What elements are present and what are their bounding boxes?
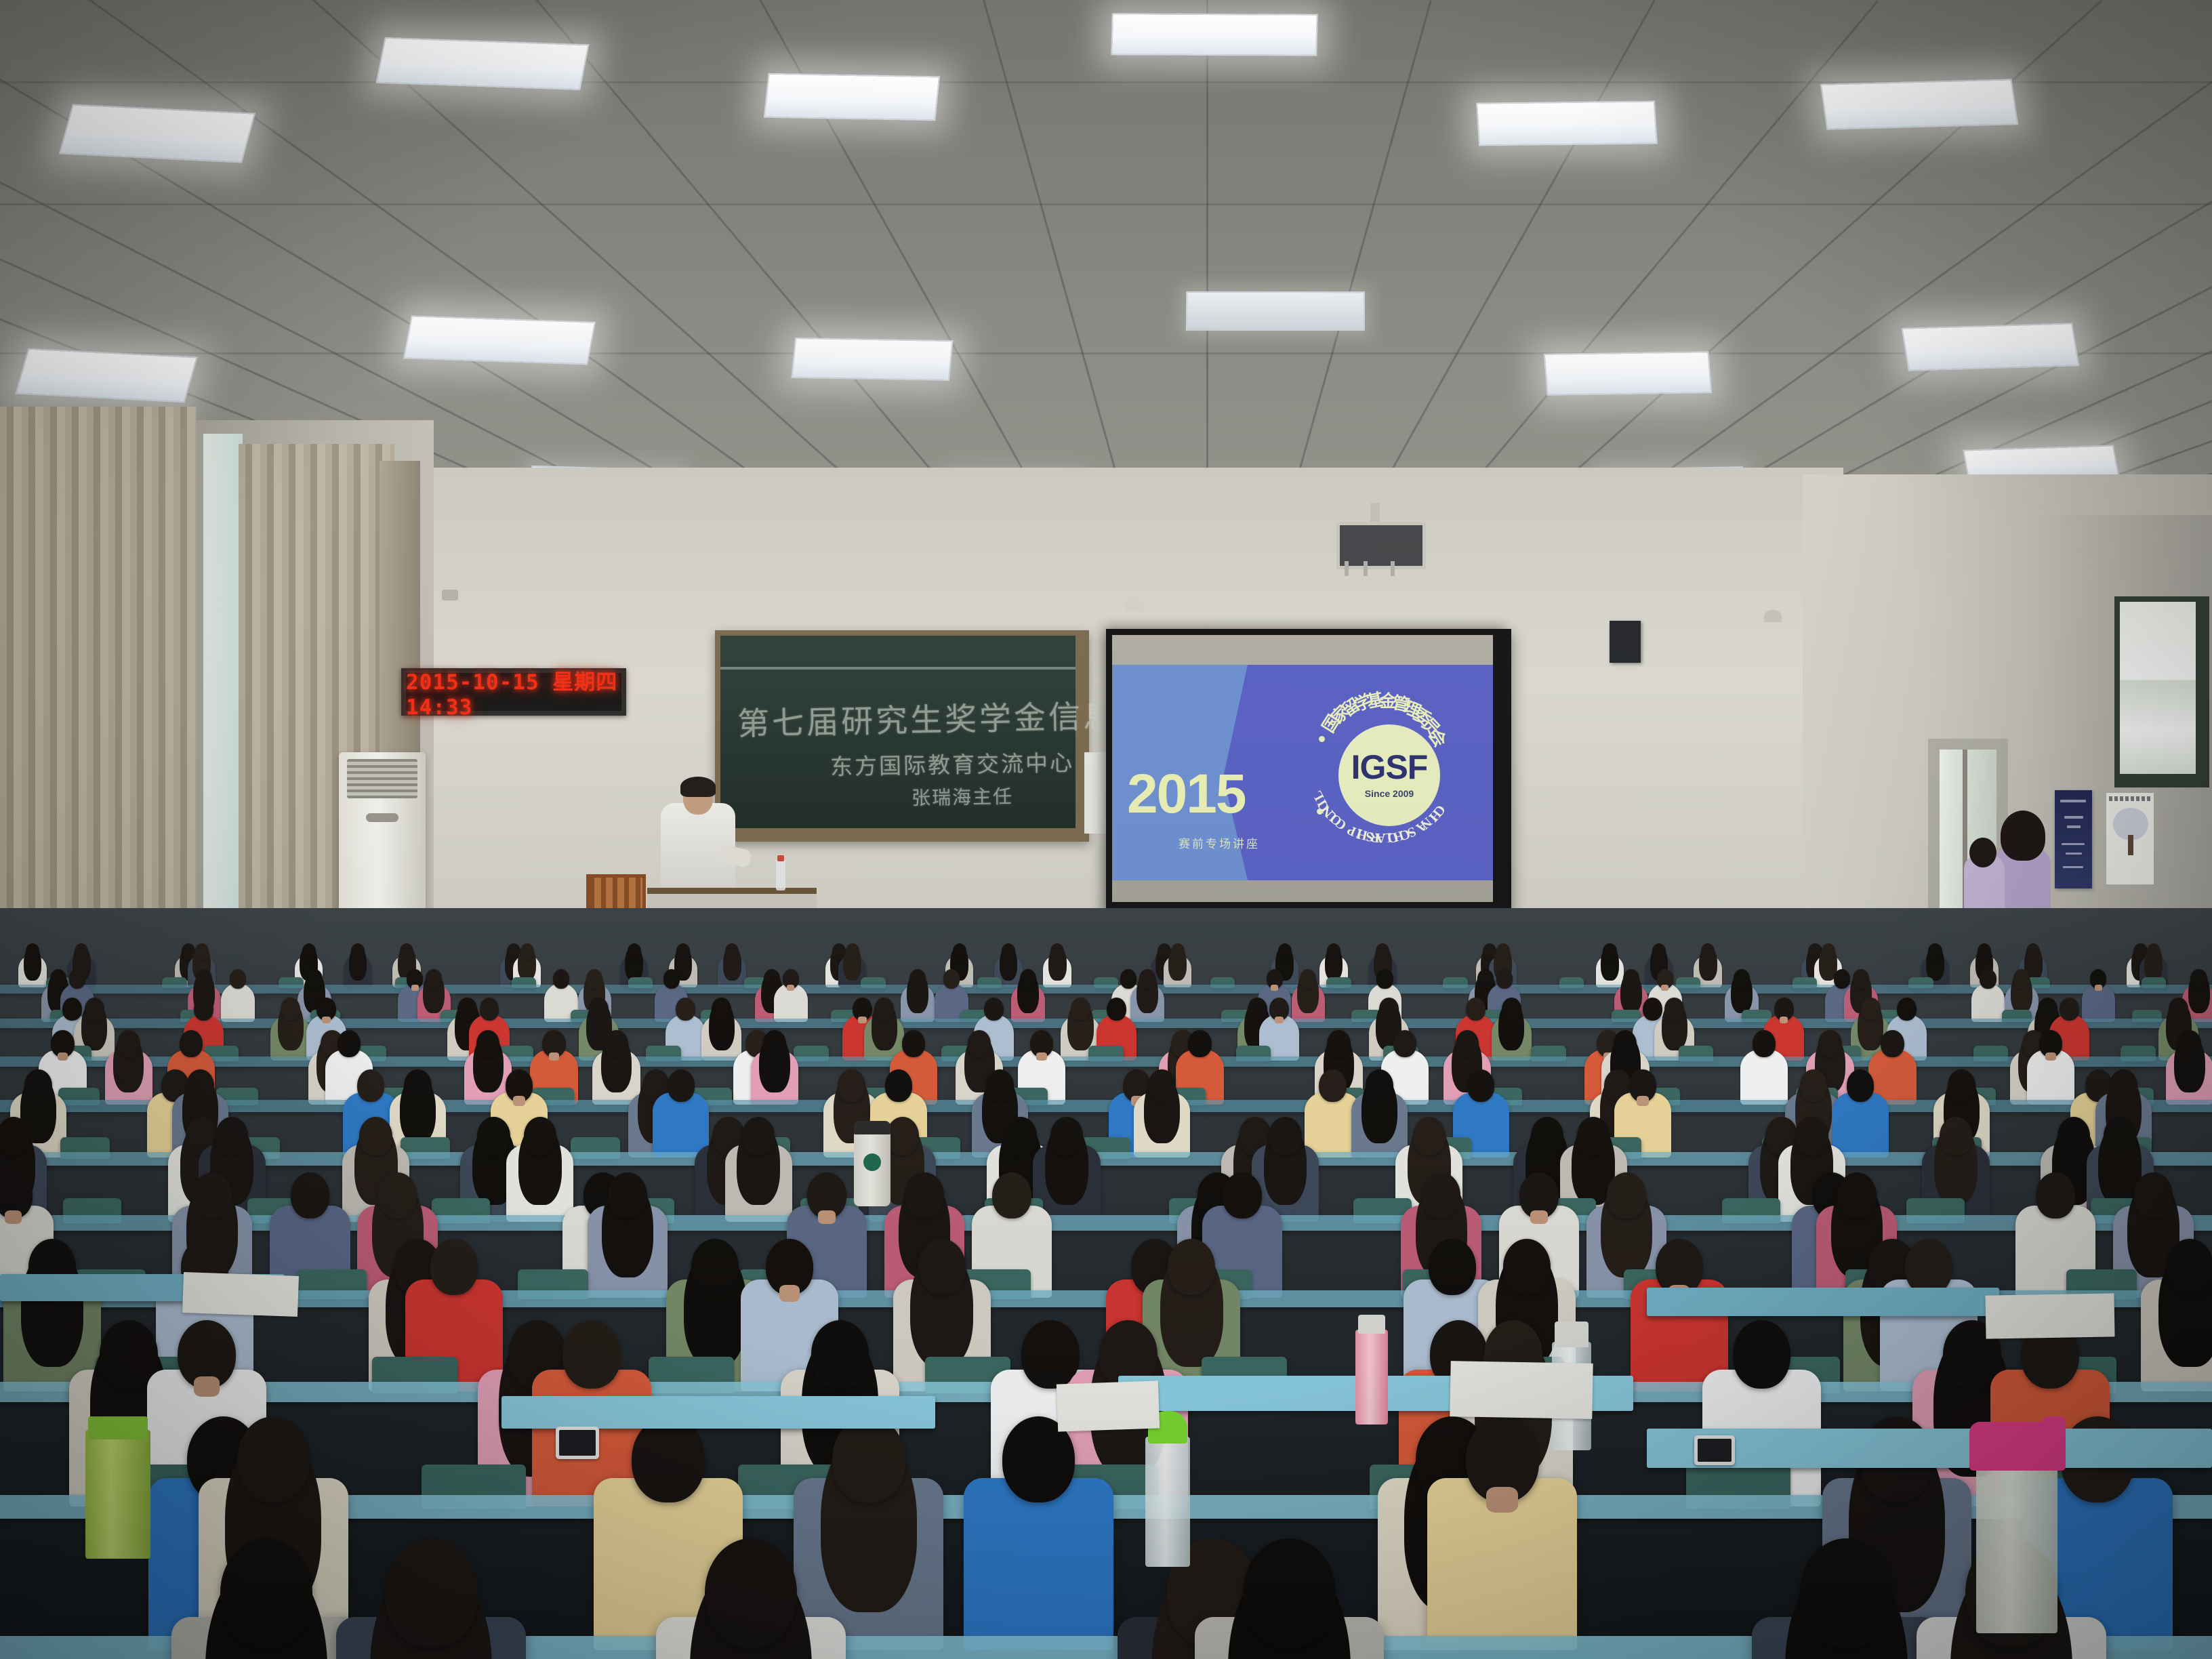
projector-security-cage xyxy=(1336,522,1426,569)
phone-screen[interactable] xyxy=(559,1430,596,1456)
projected-slide: 2015 赛前专场讲座 IGSF Since 2009 国家留学基金管理委员会C… xyxy=(1112,665,1493,880)
audience-member-head xyxy=(2060,998,2079,1021)
audience-member-head xyxy=(1466,998,1486,1021)
audience-member-head xyxy=(2057,1117,2090,1155)
audience-member-head xyxy=(281,998,300,1021)
handout-paper xyxy=(182,1272,299,1317)
audience-member-head xyxy=(62,998,82,1021)
audience-member-head xyxy=(874,998,894,1021)
handout-paper xyxy=(1057,1380,1160,1431)
audience-member-torso xyxy=(1971,983,2005,1022)
audience-member-head xyxy=(2147,943,2160,960)
audience-member-head xyxy=(1422,1172,1461,1218)
audience-member-head xyxy=(302,943,316,960)
ceiling-grid-band xyxy=(0,203,2212,205)
audience-member-head xyxy=(404,1069,432,1102)
audience-member-neck xyxy=(411,985,419,991)
audience-member-head xyxy=(1643,998,1662,1021)
desk-row-right xyxy=(1647,1288,1999,1316)
audience-member-head xyxy=(1531,1117,1563,1155)
audience-member-neck xyxy=(858,1017,867,1023)
audience-member-head xyxy=(2169,998,2188,1021)
audience-member-head xyxy=(1243,1538,1336,1647)
ceiling-light-panel xyxy=(403,315,596,365)
audience-member-head xyxy=(1664,998,1684,1021)
audience-member-head xyxy=(192,1172,232,1218)
audience-member-head xyxy=(2104,1117,2136,1155)
audience-member-head xyxy=(1897,998,1917,1021)
ceiling-light-panel xyxy=(59,104,256,163)
audience-member-torso xyxy=(653,1092,709,1158)
audience-member-neck xyxy=(1661,985,1668,991)
audience-member-head xyxy=(1366,1069,1393,1102)
audience-member-head xyxy=(1577,1117,1610,1155)
audience-member-head xyxy=(1496,969,1513,989)
audience-member-head xyxy=(237,1416,310,1502)
starbucks-logo-icon xyxy=(863,1153,881,1171)
audience-member-neck xyxy=(787,985,794,991)
audience-member-head xyxy=(117,1030,140,1057)
audience-member-head xyxy=(943,969,960,989)
audience-member-torso xyxy=(964,1478,1113,1650)
audience-member-head xyxy=(1800,1538,1893,1647)
audience-member-head xyxy=(676,998,695,1021)
lectern-bottle-cap xyxy=(777,855,784,861)
audience-member-head xyxy=(712,998,731,1021)
bottle-green xyxy=(85,1430,150,1559)
audience-member-head xyxy=(1905,1239,1952,1295)
audience-member-head xyxy=(608,1172,647,1218)
window-curtain-left xyxy=(0,407,197,935)
audience-member-head xyxy=(763,1030,786,1057)
audience-member-head xyxy=(553,969,569,989)
audience-member-head xyxy=(586,969,602,989)
audience-member-head xyxy=(1734,969,1750,989)
audience-member-head xyxy=(1071,998,1090,1021)
audience-member-head xyxy=(1020,969,1036,989)
audience-member-torso xyxy=(1832,1092,1889,1158)
audience-member-neck xyxy=(2095,985,2102,991)
audience-member-head xyxy=(1861,998,1881,1021)
audience-member-head xyxy=(75,943,88,960)
audience-member-head xyxy=(1139,969,1155,989)
ceiling-light-panel xyxy=(1476,100,1658,146)
audience-member-head xyxy=(1050,1117,1083,1155)
audience-member-head xyxy=(1853,969,1869,989)
audience-member-head xyxy=(1379,998,1399,1021)
bottle-pink-shaker xyxy=(1976,1457,2057,1633)
audience-member-head xyxy=(1327,1030,1350,1057)
seal-since-text: Since 2009 xyxy=(1365,788,1414,799)
audience-member-head xyxy=(1168,1239,1215,1295)
audience-member-head xyxy=(668,1069,695,1102)
audience-member-neck xyxy=(194,1376,220,1397)
audience-member-head xyxy=(1393,1030,1416,1057)
ceiling-light-panel xyxy=(375,37,589,91)
audience-member-head xyxy=(1413,1117,1446,1155)
led-clock-text: 2015-10-15 星期四 14:33 xyxy=(406,673,621,711)
audience-member-head xyxy=(1278,943,1292,960)
audience-member-head xyxy=(1948,1069,1975,1102)
ceiling-grid-band xyxy=(0,352,2212,354)
audience-member-head xyxy=(984,998,1004,1021)
audience-member-head xyxy=(351,943,365,960)
audience-member-head xyxy=(838,1069,865,1102)
handout-paper xyxy=(1450,1361,1593,1419)
bottle-clear-cap xyxy=(1555,1322,1589,1347)
audience-member-head xyxy=(2166,1239,2212,1295)
audience-member-head xyxy=(846,943,859,960)
audience-member-head xyxy=(378,1172,417,1218)
audience-member-head xyxy=(832,1416,905,1502)
audience-member-head xyxy=(195,943,209,960)
audience-member-head xyxy=(886,1117,919,1155)
poster-title-line xyxy=(2109,796,2151,801)
audience-member-head xyxy=(337,1030,361,1057)
audience-member-head xyxy=(69,969,85,989)
audience-member-torso xyxy=(1740,1050,1788,1105)
lectern-water-bottle xyxy=(776,859,785,890)
audience-member-head xyxy=(992,1172,1031,1218)
audience-member-head xyxy=(1050,943,1064,960)
audience-member-head xyxy=(885,1069,913,1102)
audience-member-neck xyxy=(1486,1487,1518,1513)
audience-member-head xyxy=(1002,943,1015,960)
audience-member-head xyxy=(476,1030,499,1057)
audience-member-head xyxy=(1753,1030,1776,1057)
audience-member-head xyxy=(811,1320,869,1389)
audience-member-neck xyxy=(322,1017,331,1023)
audience-member-head xyxy=(742,1117,775,1155)
security-camera-icon xyxy=(442,590,458,600)
ceiling-light-panel xyxy=(1901,323,2079,371)
phone-screen[interactable] xyxy=(1698,1439,1732,1462)
audience-member-head xyxy=(357,1069,385,1102)
audience-member-head xyxy=(1928,943,1942,960)
projector-cage-foot xyxy=(1364,561,1368,576)
audience-member-head xyxy=(1376,943,1389,960)
audience-member-head xyxy=(0,1117,30,1155)
presenter-hair xyxy=(680,777,716,797)
audience-member-head xyxy=(605,1030,628,1057)
audience-member-neck xyxy=(1530,1210,1547,1224)
audience-member-head xyxy=(1800,1069,1828,1102)
audience-member-neck xyxy=(2045,1052,2055,1061)
lecture-hall-photo: 2015-10-15 星期四 14:33 第七届研究生奖学金信息说明会 东方国际… xyxy=(0,0,2212,1659)
window-pane xyxy=(203,434,243,949)
tree-trunk-icon xyxy=(2128,835,2133,855)
audience-member-head xyxy=(1607,1172,1646,1218)
poster-line xyxy=(2062,843,2085,845)
audience-member-head xyxy=(1171,943,1185,960)
audience-member-head xyxy=(589,998,609,1021)
ceiling-light-panel xyxy=(791,337,953,381)
audience-member-neck xyxy=(5,1210,22,1224)
audience-member-head xyxy=(968,1030,991,1057)
audience-member-head xyxy=(1503,1239,1551,1295)
audience-member-head xyxy=(306,969,323,989)
audience-member-head xyxy=(1429,1239,1476,1295)
audience-member-head xyxy=(1502,998,1521,1021)
audience-member-neck xyxy=(549,1052,559,1061)
bottle-clear-green-cap xyxy=(1145,1437,1190,1567)
blackboard-line-2: 东方国际教育交流中心 xyxy=(830,745,1075,781)
audience-member-head xyxy=(220,1538,313,1647)
audience-member-head xyxy=(1319,1069,1347,1102)
blackboard-chalk-rail xyxy=(720,667,1076,670)
audience-member-head xyxy=(50,969,66,989)
blackboard-line-3: 张瑞海主任 xyxy=(912,782,1014,811)
audience-member-head xyxy=(1496,943,1510,960)
audience-member-head xyxy=(85,998,104,1021)
seal-dot-icon xyxy=(1317,808,1323,815)
audience-member-head xyxy=(26,943,39,960)
led-clock-display: 2015-10-15 星期四 14:33 xyxy=(401,668,626,716)
audience-member-head xyxy=(905,1172,944,1218)
audience-member-head xyxy=(676,943,690,960)
ceiling-light-panel xyxy=(1186,291,1365,331)
seal-dot-icon xyxy=(1319,736,1325,742)
audience-member-head xyxy=(1623,969,1639,989)
wall-speaker xyxy=(1610,621,1641,663)
audience-member-head xyxy=(1940,1117,1972,1155)
audience-member-head xyxy=(1847,1069,1875,1102)
audience-member-head xyxy=(1980,969,1996,989)
ceiling-light-panel xyxy=(1544,351,1713,395)
audience-member-head xyxy=(1795,1117,1828,1155)
audience-member-head xyxy=(1467,1069,1495,1102)
projector-cage-foot xyxy=(1345,561,1349,576)
audience-member-head xyxy=(216,1117,248,1155)
tumbler-lid xyxy=(854,1121,890,1134)
poster-line xyxy=(2064,816,2083,819)
audience-member-head xyxy=(2190,969,2207,989)
audience-member-neck xyxy=(513,1096,525,1105)
audience-member-head xyxy=(520,943,534,960)
ceiling-light-panel xyxy=(1820,79,2019,129)
poster-line xyxy=(2066,853,2082,855)
audience-member-head xyxy=(1834,969,1850,989)
right-window-glass xyxy=(2120,602,2196,774)
poster-line xyxy=(2063,866,2083,868)
audience-member-head xyxy=(986,1069,1014,1102)
csc-seal-logo: IGSF Since 2009 国家留学基金管理委员会CHINA SCHOLAR… xyxy=(1291,677,1486,872)
audience-member-head xyxy=(764,969,780,989)
audience-member-head xyxy=(725,943,739,960)
audience-member-head xyxy=(426,969,442,989)
audience-member-head xyxy=(1881,1030,1904,1057)
ac-grille-icon xyxy=(347,759,417,798)
audience-member-torso xyxy=(221,983,255,1022)
projector-cage-foot xyxy=(1391,561,1395,576)
audience-member-head xyxy=(628,943,641,960)
audience-member-neck xyxy=(1271,985,1278,991)
audience-member-head xyxy=(1004,1117,1037,1155)
audience-member-head xyxy=(918,1239,966,1295)
audience-member-head xyxy=(562,1320,621,1389)
audience-member-head xyxy=(359,1117,392,1155)
desk-row-front-left xyxy=(501,1396,935,1429)
audience-member-neck xyxy=(818,1210,835,1224)
audience-member-head xyxy=(457,998,477,1021)
bottle-green-cap xyxy=(88,1416,148,1439)
audience-member-head xyxy=(477,1117,510,1155)
ceiling-light-panel xyxy=(764,73,940,121)
audience-member-head xyxy=(1248,998,1267,1021)
audience-member-neck xyxy=(1036,1052,1046,1061)
audience-member-head xyxy=(1652,943,1666,960)
audience-member-head xyxy=(2178,1030,2201,1057)
audience-member-head xyxy=(291,1172,330,1218)
audience-member-head xyxy=(1223,1172,1262,1218)
audience-member-head xyxy=(230,969,246,989)
audience-member-head xyxy=(2026,943,2040,960)
audience-member-head xyxy=(2038,998,2057,1021)
poster-line xyxy=(2067,825,2081,828)
smartphone-on-desk[interactable] xyxy=(556,1427,599,1459)
audience-member-head xyxy=(953,943,966,960)
bottle-pink-sleeve xyxy=(1355,1330,1388,1425)
audience-member-head xyxy=(1148,1069,1176,1102)
audience-member-head xyxy=(24,1069,52,1102)
classroom-desk xyxy=(0,1152,2212,1166)
audience-member-neck xyxy=(1780,1017,1788,1023)
audience-member-head xyxy=(1837,1172,1877,1218)
audience-member-head xyxy=(1456,1030,1479,1057)
audience-member-head xyxy=(1376,969,1393,989)
audience-member-head xyxy=(632,1416,705,1502)
audience-member-head xyxy=(1822,943,1835,960)
poster-line xyxy=(2060,800,2086,802)
smartphone-on-desk[interactable] xyxy=(1694,1435,1735,1465)
audience-member-head xyxy=(430,1239,478,1295)
audience-member-head xyxy=(1107,998,1126,1021)
ceiling-light-panel xyxy=(1111,13,1317,56)
audience-member-head xyxy=(1603,943,1616,960)
audience-member-head xyxy=(480,998,499,1021)
audience-member-head xyxy=(196,969,212,989)
dome-camera-icon xyxy=(1764,610,1782,622)
slide-subtitle-text: 赛前专场讲座 xyxy=(1179,834,1260,851)
audience-member-head xyxy=(524,1117,556,1155)
audience-member-neck xyxy=(779,1285,800,1302)
audience-member-head xyxy=(663,969,680,989)
audience-member-head xyxy=(1733,1320,1791,1389)
ac-badge xyxy=(366,813,398,822)
audience-member-head xyxy=(1477,969,1494,989)
audience-member-head xyxy=(1327,943,1340,960)
audience-member-head xyxy=(385,1538,478,1647)
audience-member-head xyxy=(1701,943,1715,960)
audience-member-head xyxy=(186,1069,214,1102)
audience-member-head xyxy=(691,1239,739,1295)
audience-member-head xyxy=(1818,1030,1841,1057)
audience-member-head xyxy=(2036,1172,2075,1218)
audience-member-head xyxy=(1614,1030,1637,1057)
classroom-desk xyxy=(0,985,2212,994)
slide-year-text: 2015 xyxy=(1127,766,1245,822)
audience-member-head xyxy=(180,1030,203,1057)
audience-member-head xyxy=(902,1030,925,1057)
audience-member-head xyxy=(2110,1069,2137,1102)
audience-member-head xyxy=(194,998,213,1021)
ceiling-light-panel xyxy=(15,348,198,403)
wall-poster-banner xyxy=(2055,790,2092,888)
bottle-pink-sleeve-cap xyxy=(1358,1315,1385,1334)
staff-hair xyxy=(2001,811,2045,861)
dome-camera-icon xyxy=(1125,599,1143,611)
audience-member-head xyxy=(1120,969,1136,989)
seal-acronym: IGSF xyxy=(1351,752,1428,784)
audience-member-head xyxy=(2013,969,2030,989)
handout-paper xyxy=(1985,1293,2114,1338)
audience-member-head xyxy=(909,969,926,989)
staff-second-head xyxy=(1969,838,1996,867)
audience-member-neck xyxy=(1275,1017,1284,1023)
audience-member-head xyxy=(1269,1117,1301,1155)
audience-member-neck xyxy=(58,1052,68,1061)
audience-member-head xyxy=(1300,969,1316,989)
audience-member-head xyxy=(400,943,413,960)
audience-member-head xyxy=(1978,943,1991,960)
audience-member-head xyxy=(1188,1030,1211,1057)
audience-member-head xyxy=(2134,1172,2173,1218)
bottle-pink-shaker-spout xyxy=(2043,1416,2066,1435)
audience-member-head xyxy=(705,1538,798,1647)
audience-member-neck xyxy=(1637,1096,1649,1105)
